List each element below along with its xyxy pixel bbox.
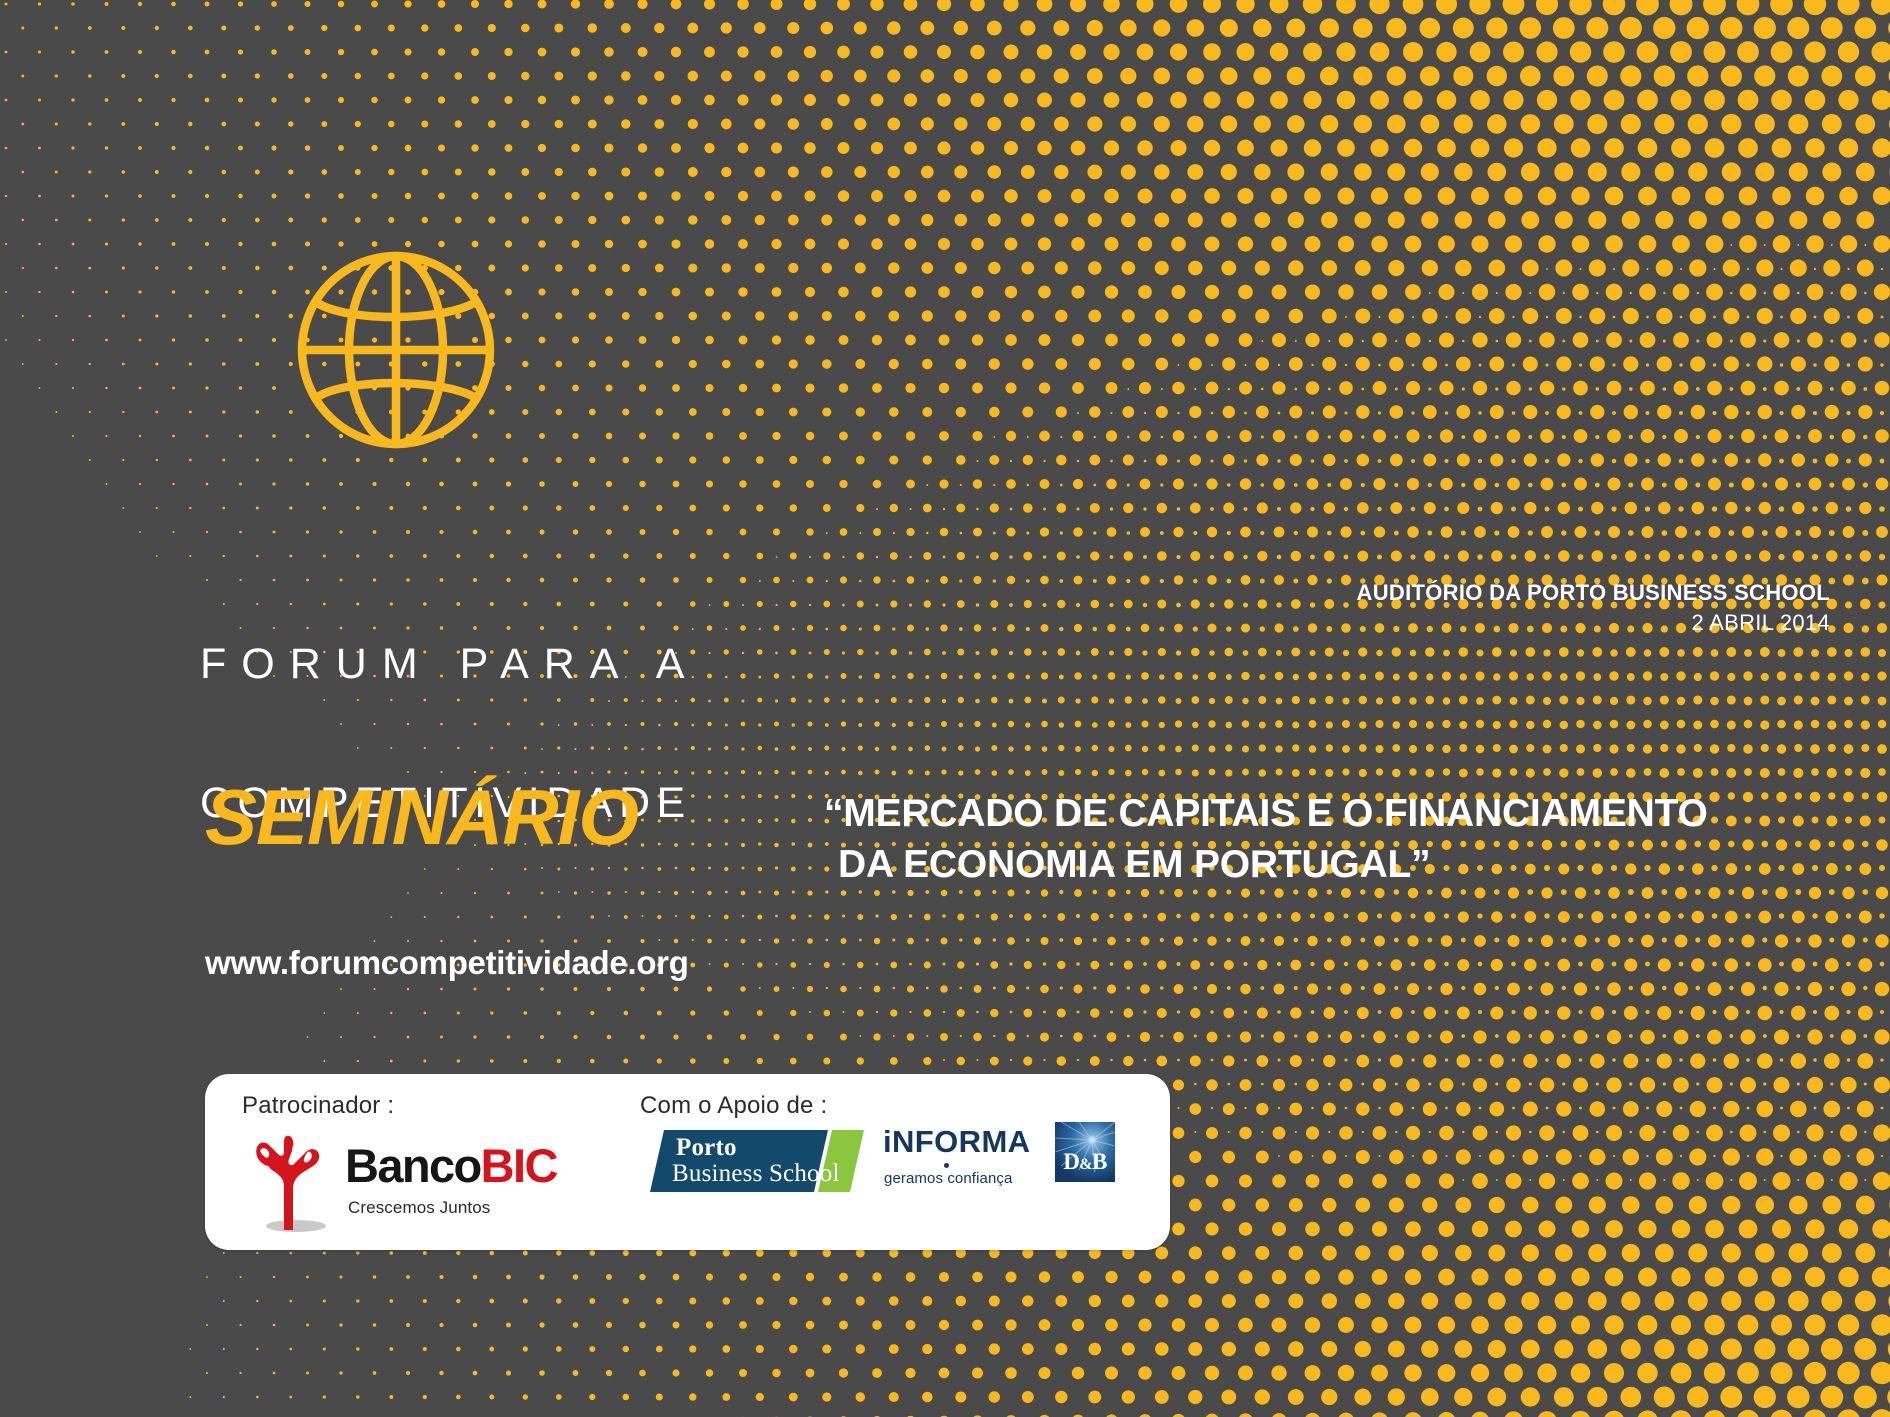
informa-dnb-logo: iNFORMA geramos confiança D&B <box>883 1126 1043 1198</box>
globe-icon <box>296 250 496 450</box>
banco-bic-tagline: Crescemos Juntos <box>348 1198 490 1218</box>
website-url[interactable]: www.forumcompetitividade.org <box>205 944 689 982</box>
support-label: Com o Apoio de : <box>640 1092 827 1120</box>
brand-line-1: FORUM PARA A <box>200 630 699 700</box>
seminar-kicker: SEMINÁRIO <box>205 778 638 856</box>
banco-bic-name-2: BIC <box>481 1139 557 1192</box>
sponsor-slot: Patrocinador : BancoBIC Crescemos Juntos <box>205 1074 635 1250</box>
red-tree-icon <box>240 1134 335 1234</box>
dnb-label: D&B <box>1055 1149 1115 1175</box>
seminar-title: “MERCADO DE CAPITAIS E O FINANCIAMENTO D… <box>824 788 1844 891</box>
venue-date: 2 ABRIL 2014 <box>1357 608 1830 638</box>
support-slot: Com o Apoio de : Porto Business School i… <box>635 1074 1170 1250</box>
seminar-title-line-1: “MERCADO DE CAPITAIS E O FINANCIAMENTO <box>824 792 1708 835</box>
venue-block: AUDITÓRIO DA PORTO BUSINESS SCHOOL 2 ABR… <box>1357 578 1830 637</box>
banco-bic-name-1: Banco <box>345 1139 481 1192</box>
informa-tagline: geramos confiança <box>884 1170 1012 1187</box>
sponsor-label: Patrocinador : <box>242 1092 394 1120</box>
sponsor-card: Patrocinador : BancoBIC Crescemos Juntos <box>205 1074 1170 1250</box>
informa-wordmark: iNFORMA <box>883 1126 1030 1157</box>
seminar-title-line-2: DA ECONOMIA EM PORTUGAL” <box>824 839 1844 890</box>
pbs-line-1: Porto <box>676 1134 737 1161</box>
dnb-badge: D&B <box>1055 1122 1115 1182</box>
pbs-line-2: Business School <box>672 1160 840 1187</box>
porto-business-school-logo: Porto Business School <box>650 1130 855 1192</box>
poster-canvas: FORUM PARA A COMPETITIVIDADE AUDITÓRIO D… <box>0 0 1890 1417</box>
venue-place: AUDITÓRIO DA PORTO BUSINESS SCHOOL <box>1357 578 1830 608</box>
banco-bic-logo: BancoBIC Crescemos Juntos <box>240 1134 570 1234</box>
banco-bic-wordmark: BancoBIC <box>345 1142 557 1189</box>
